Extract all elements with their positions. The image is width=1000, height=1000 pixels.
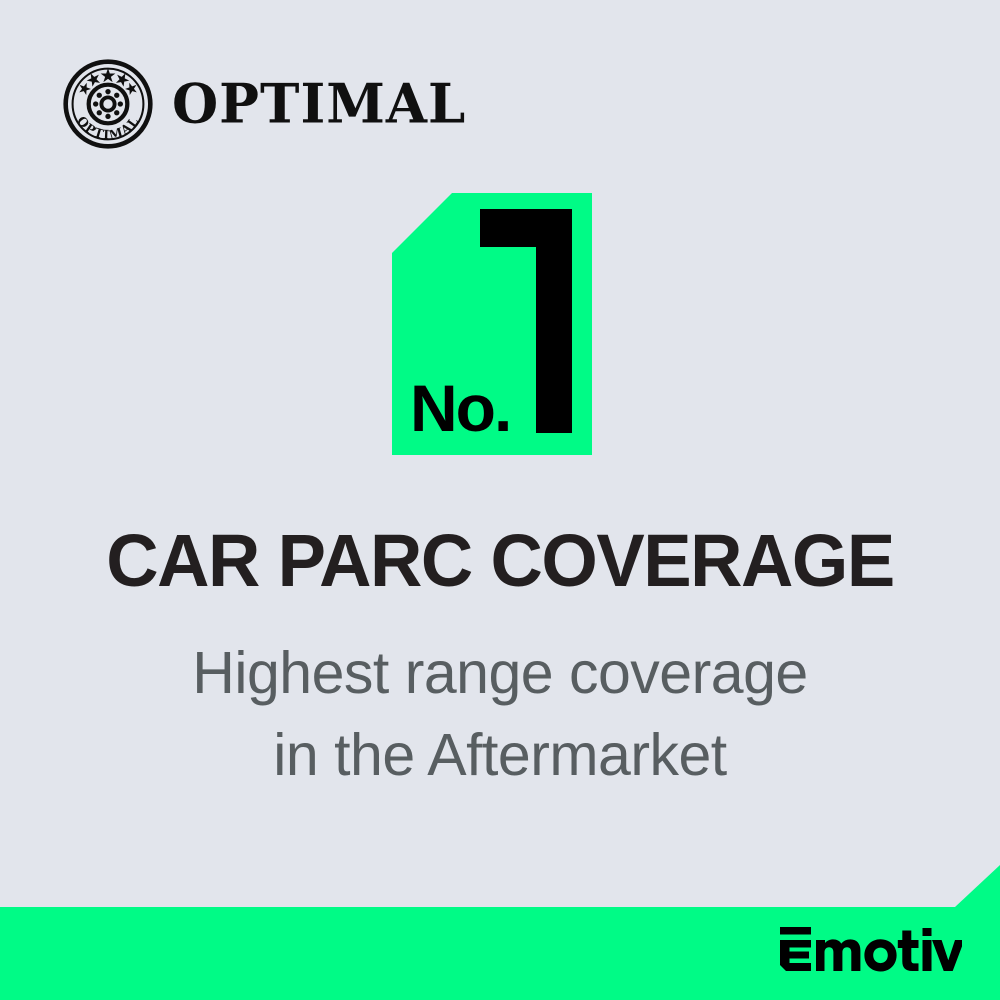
optimal-wheel-emblem-icon: OPTIMAL xyxy=(62,58,154,150)
emotive-logo xyxy=(778,927,962,973)
poster-canvas: OPTIMAL OPTIMAL No. CAR PARC COVERAG xyxy=(0,0,1000,1000)
brand-header: OPTIMAL OPTIMAL xyxy=(62,58,466,150)
page-title: CAR PARC COVERAGE xyxy=(10,524,990,598)
page-subtitle: Highest range coverage in the Aftermarke… xyxy=(0,632,1000,796)
page-subtitle-line-1: Highest range coverage xyxy=(0,632,1000,714)
rank-numeral-one xyxy=(480,209,572,433)
brand-wordmark: OPTIMAL xyxy=(172,77,466,131)
page-subtitle-line-2: in the Aftermarket xyxy=(0,714,1000,796)
rank-badge: No. xyxy=(392,193,592,455)
footer-band xyxy=(0,865,1000,1000)
